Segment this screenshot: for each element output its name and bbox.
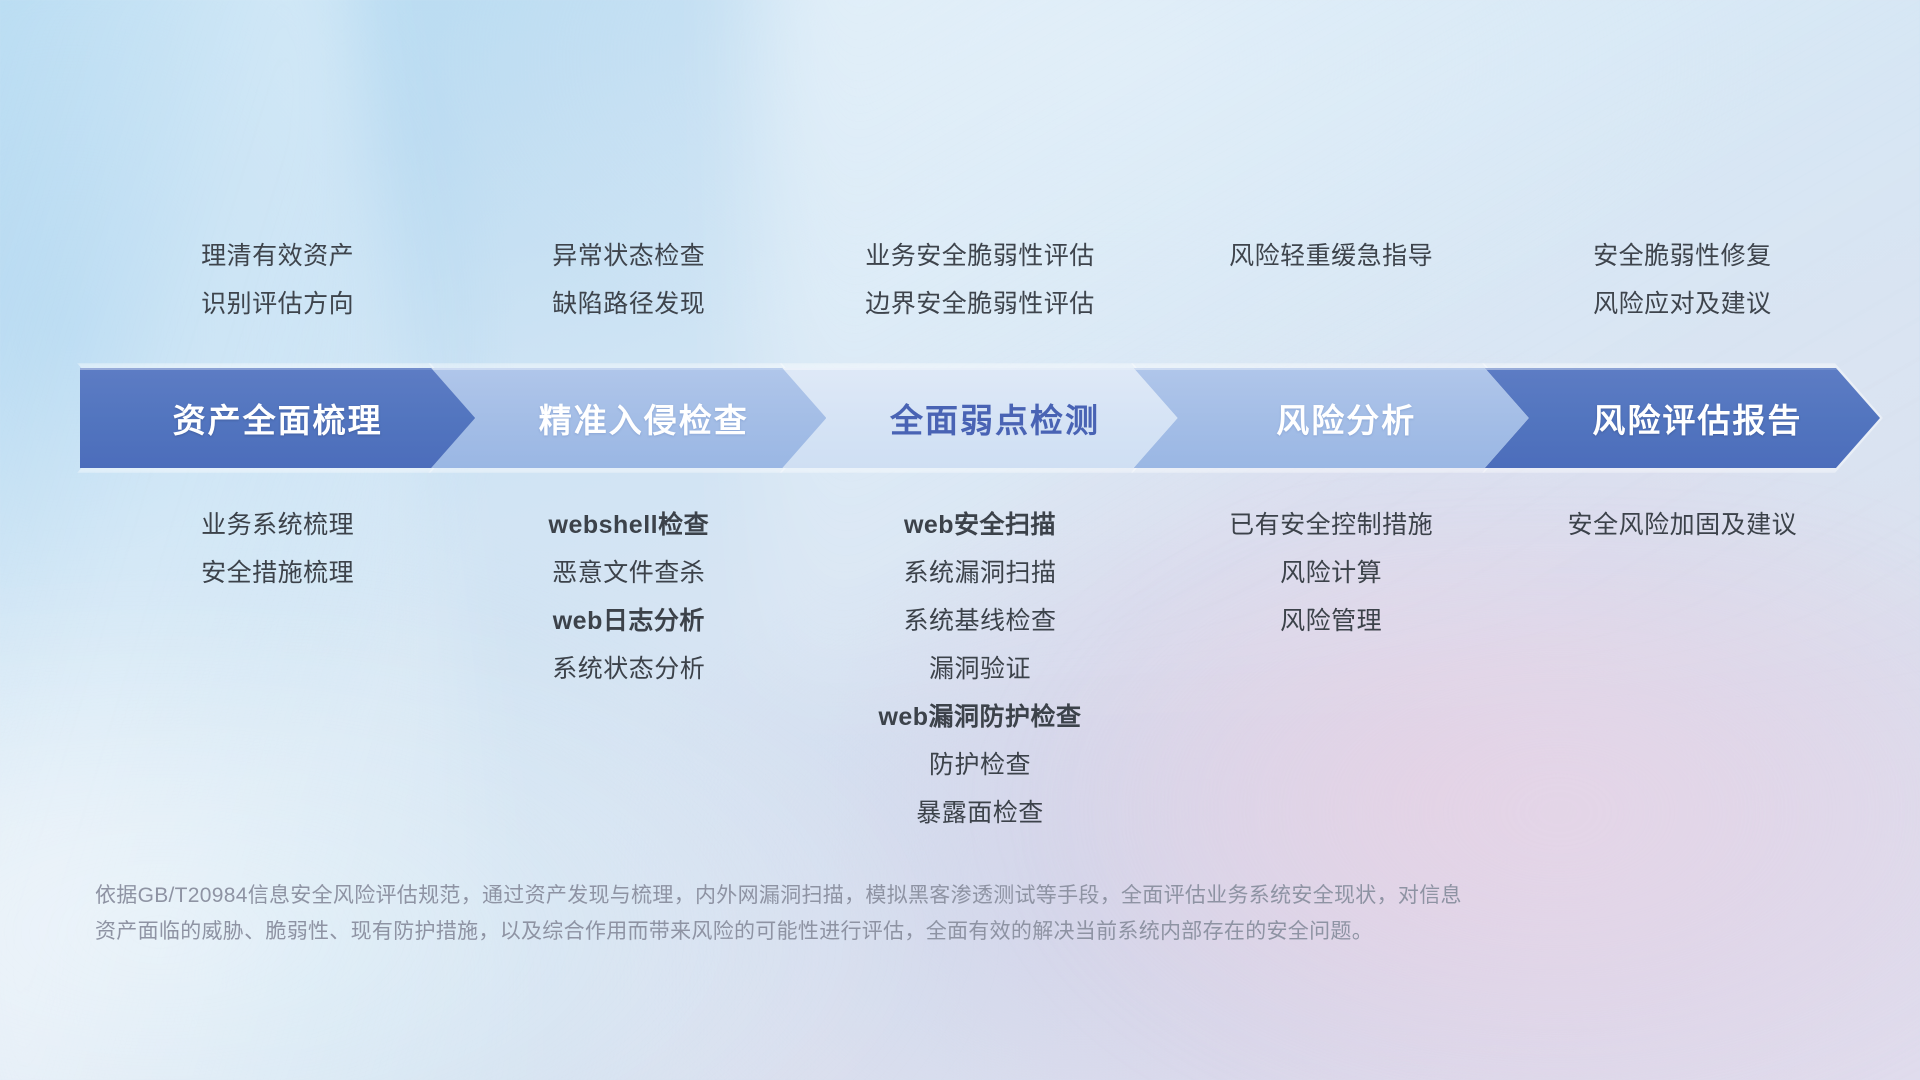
detail-list-risk-report: 安全风险加固及建议 <box>1462 505 1902 553</box>
detail-list-item: 风险管理 <box>1111 601 1551 641</box>
footer-line-2: 资产面临的威胁、脆弱性、现有防护措施，以及综合作用而带来风险的可能性进行评估，全… <box>95 914 1835 950</box>
stage-chevron-label: 风险评估报告 <box>1562 394 1802 442</box>
top-label: 风险应对及建议 <box>1462 280 1902 328</box>
top-label: 边界安全脆弱性评估 <box>760 280 1200 328</box>
top-label-group-risk-report: 安全脆弱性修复风险应对及建议 <box>1462 232 1902 328</box>
top-label: 安全脆弱性修复 <box>1462 232 1902 280</box>
stage-chevron-asset-inventory[interactable]: 资产全面梳理 <box>80 368 475 468</box>
footer-line-1: 依据GB/T20984信息安全风险评估规范，通过资产发现与梳理，内外网漏洞扫描，… <box>95 878 1835 914</box>
stage-chevron-label: 全面弱点检测 <box>860 394 1100 442</box>
detail-list-item: 防护检查 <box>760 745 1200 785</box>
detail-list-item: web漏洞防护检查 <box>760 697 1200 737</box>
detail-list-item: 风险计算 <box>1111 553 1551 593</box>
process-diagram: 理清有效资产识别评估方向异常状态检查缺陷路径发现业务安全脆弱性评估边界安全脆弱性… <box>0 0 1920 1080</box>
stage-chevron-intrusion-check[interactable]: 精准入侵检查 <box>431 368 826 468</box>
stage-chevron-banner: 资产全面梳理精准入侵检查全面弱点检测风险分析风险评估报告 <box>80 368 1880 468</box>
stage-chevron-label: 风险分析 <box>1246 394 1416 442</box>
detail-list-item: 安全风险加固及建议 <box>1462 505 1902 545</box>
detail-list-item: 漏洞验证 <box>760 649 1200 689</box>
stage-chevron-label: 资产全面梳理 <box>173 394 383 442</box>
footer-description: 依据GB/T20984信息安全风险评估规范，通过资产发现与梳理，内外网漏洞扫描，… <box>95 878 1835 950</box>
stage-chevron-risk-report[interactable]: 风险评估报告 <box>1485 368 1880 468</box>
detail-list-item: 暴露面检查 <box>760 793 1200 833</box>
stage-chevron-risk-analysis[interactable]: 风险分析 <box>1134 368 1529 468</box>
stage-chevron-weakness-detection[interactable]: 全面弱点检测 <box>782 368 1177 468</box>
stage-chevron-label: 精准入侵检查 <box>509 394 749 442</box>
